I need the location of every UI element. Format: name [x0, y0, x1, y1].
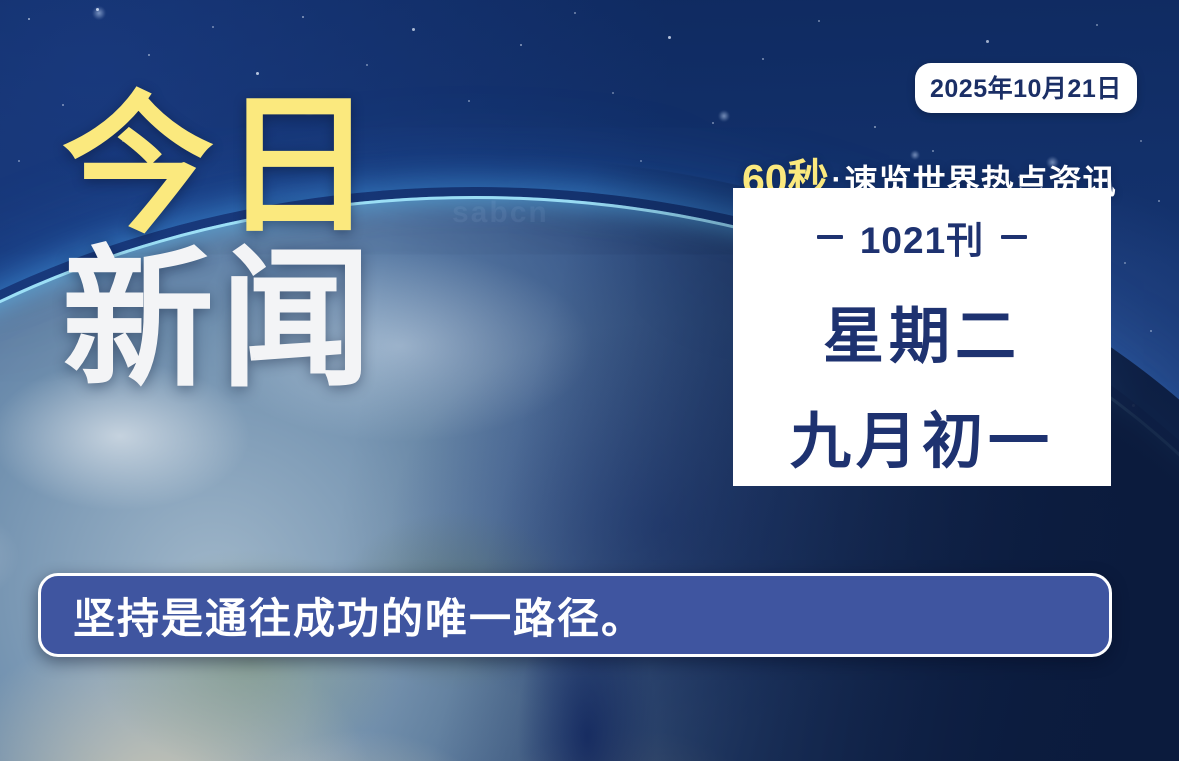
- news-poster: sabcn 今日 新闻 2025年10月21日 60秒·速览世界热点资讯 102…: [0, 0, 1179, 761]
- weekday-label: 星期二: [823, 286, 1021, 375]
- bokeh-light: [718, 110, 730, 122]
- page-title-line-2: 新闻: [62, 240, 382, 400]
- quote-text: 坚持是通往成功的唯一路径。: [41, 585, 645, 646]
- issue-label: 1021刊: [860, 210, 984, 264]
- issue-row: 1021刊: [817, 210, 1027, 264]
- date-badge: 2025年10月21日: [915, 63, 1137, 113]
- info-card: 1021刊 星期二 九月初一: [733, 188, 1111, 486]
- bokeh-light: [92, 6, 106, 20]
- lunar-date-label: 九月初一: [790, 391, 1054, 480]
- page-title: 今日 新闻: [62, 92, 382, 400]
- watermark-text: sabcn: [452, 196, 549, 230]
- dash-left-icon: [817, 235, 843, 239]
- dash-right-icon: [1001, 235, 1027, 239]
- page-title-line-1: 今日: [62, 92, 382, 240]
- quote-bar: 坚持是通往成功的唯一路径。: [38, 573, 1112, 657]
